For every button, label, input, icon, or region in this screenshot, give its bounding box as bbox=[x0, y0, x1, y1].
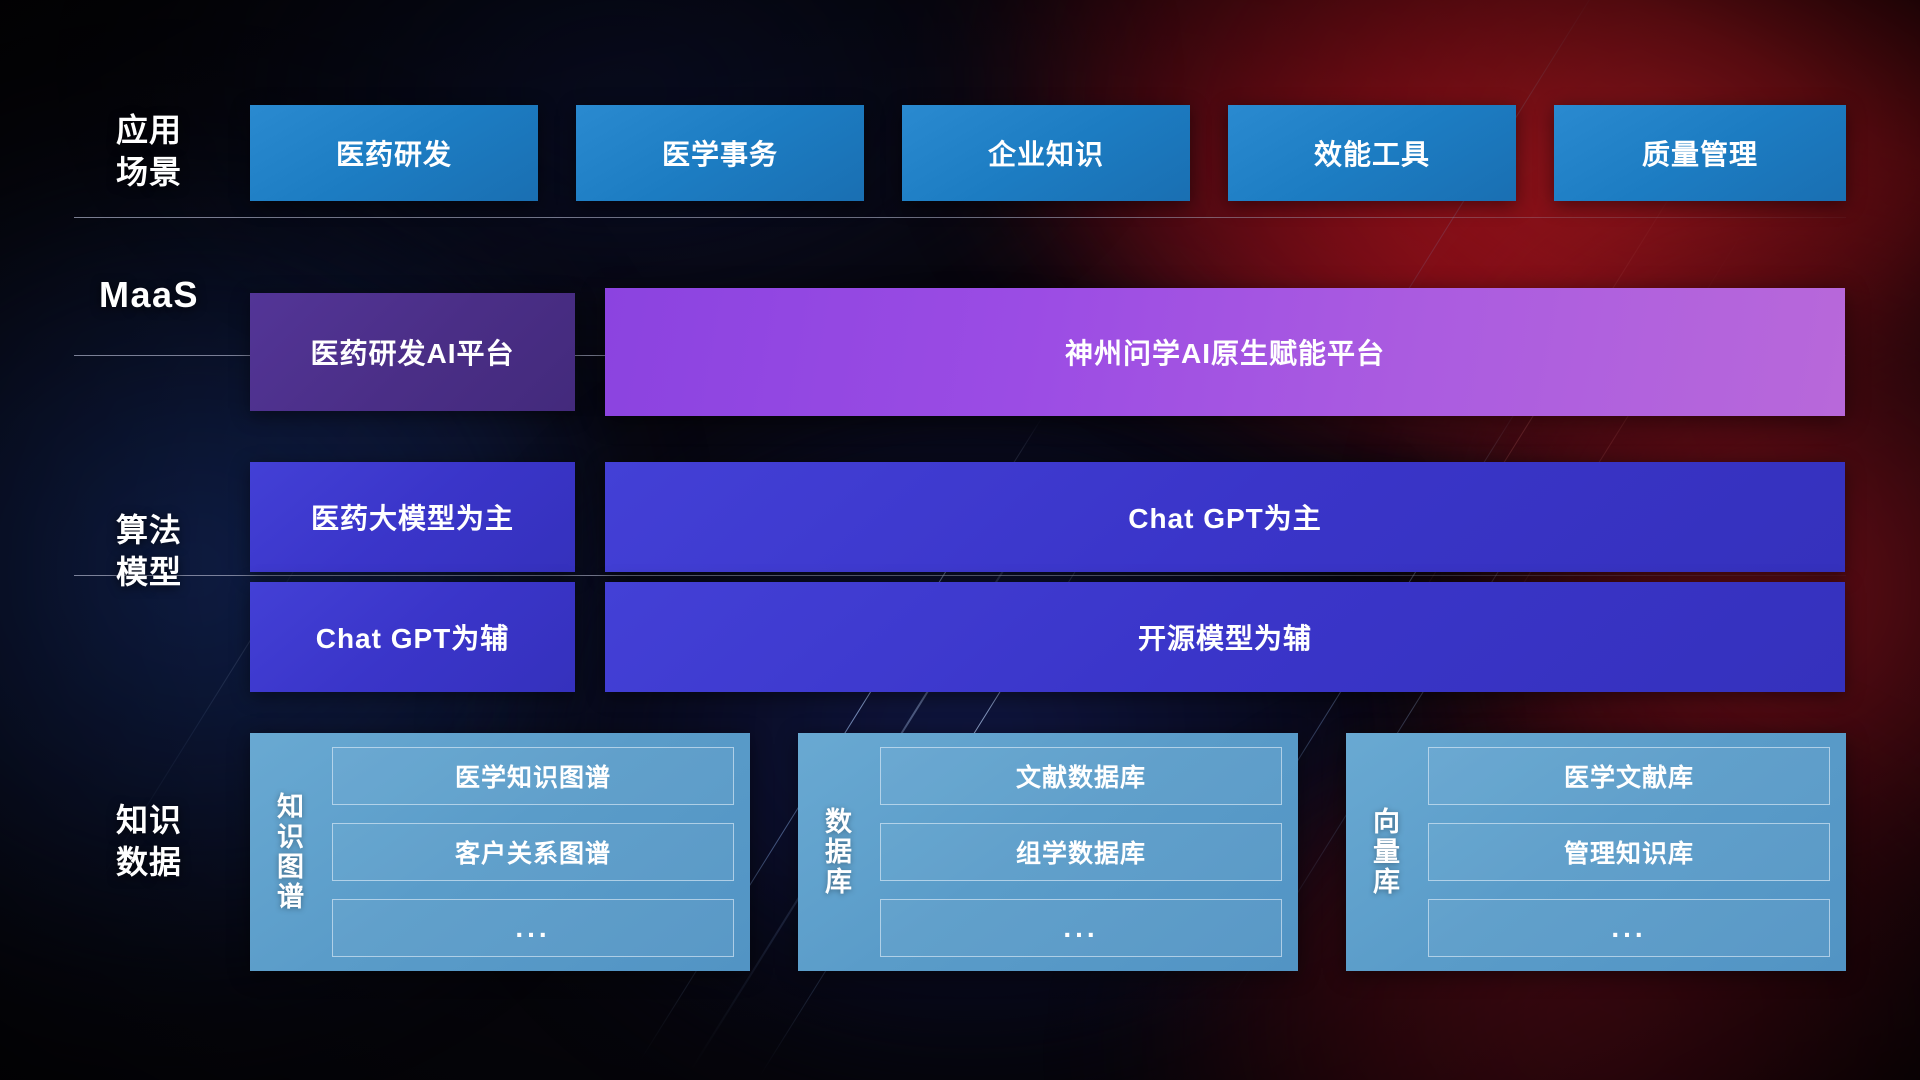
row-label-algorithm: 算法 模型 bbox=[74, 510, 224, 593]
maas-box-shenzhou-wenxue-platform[interactable]: 神州问学AI原生赋能平台 bbox=[605, 288, 1845, 416]
knowledge-item-list: 医学文献库 管理知识库 ... bbox=[1418, 747, 1830, 957]
knowledge-item-list: 文献数据库 组学数据库 ... bbox=[870, 747, 1282, 957]
divider-algorithm bbox=[74, 575, 1846, 576]
app-box-enterprise-knowledge[interactable]: 企业知识 bbox=[902, 105, 1190, 201]
knowledge-item-medical-kg[interactable]: 医学知识图谱 bbox=[332, 747, 734, 805]
app-box-quality-management[interactable]: 质量管理 bbox=[1554, 105, 1846, 201]
maas-box-pharma-ai-platform[interactable]: 医药研发AI平台 bbox=[250, 293, 575, 411]
knowledge-group-label: 向量库 bbox=[1356, 747, 1418, 957]
algorithm-box-chatgpt-secondary[interactable]: Chat GPT为辅 bbox=[250, 582, 575, 692]
knowledge-group-label-text: 数据库 bbox=[824, 807, 854, 898]
row-label-knowledge: 知识 数据 bbox=[74, 800, 224, 883]
app-box-efficiency-tools[interactable]: 效能工具 bbox=[1228, 105, 1516, 201]
knowledge-group-label-text: 知识图谱 bbox=[276, 792, 306, 913]
row-label-application: 应用 场景 bbox=[74, 110, 224, 193]
knowledge-item-literature-db[interactable]: 文献数据库 bbox=[880, 747, 1282, 805]
algorithm-box-opensource-secondary[interactable]: 开源模型为辅 bbox=[605, 582, 1845, 692]
knowledge-group-database[interactable]: 数据库 文献数据库 组学数据库 ... bbox=[798, 733, 1298, 971]
knowledge-item-customer-kg[interactable]: 客户关系图谱 bbox=[332, 823, 734, 881]
knowledge-item-list: 医学知识图谱 客户关系图谱 ... bbox=[322, 747, 734, 957]
knowledge-group-vector-store[interactable]: 向量库 医学文献库 管理知识库 ... bbox=[1346, 733, 1846, 971]
knowledge-group-label: 数据库 bbox=[808, 747, 870, 957]
knowledge-item-more[interactable]: ... bbox=[332, 899, 734, 957]
knowledge-item-medical-literature[interactable]: 医学文献库 bbox=[1428, 747, 1830, 805]
knowledge-group-label-text: 向量库 bbox=[1372, 807, 1402, 898]
knowledge-item-management-kb[interactable]: 管理知识库 bbox=[1428, 823, 1830, 881]
knowledge-item-omics-db[interactable]: 组学数据库 bbox=[880, 823, 1282, 881]
knowledge-group-knowledge-graph[interactable]: 知识图谱 医学知识图谱 客户关系图谱 ... bbox=[250, 733, 750, 971]
knowledge-item-more[interactable]: ... bbox=[1428, 899, 1830, 957]
architecture-diagram: 应用 场景 MaaS 算法 模型 知识 数据 医药研发 医学事务 企业知识 效能… bbox=[0, 0, 1920, 1080]
knowledge-item-more[interactable]: ... bbox=[880, 899, 1282, 957]
app-box-medicine-rnd[interactable]: 医药研发 bbox=[250, 105, 538, 201]
algorithm-box-chatgpt-primary[interactable]: Chat GPT为主 bbox=[605, 462, 1845, 572]
knowledge-group-label: 知识图谱 bbox=[260, 747, 322, 957]
row-label-maas: MaaS bbox=[74, 272, 224, 319]
divider-application bbox=[74, 217, 1846, 218]
algorithm-box-pharma-llm-primary[interactable]: 医药大模型为主 bbox=[250, 462, 575, 572]
app-box-medical-affairs[interactable]: 医学事务 bbox=[576, 105, 864, 201]
